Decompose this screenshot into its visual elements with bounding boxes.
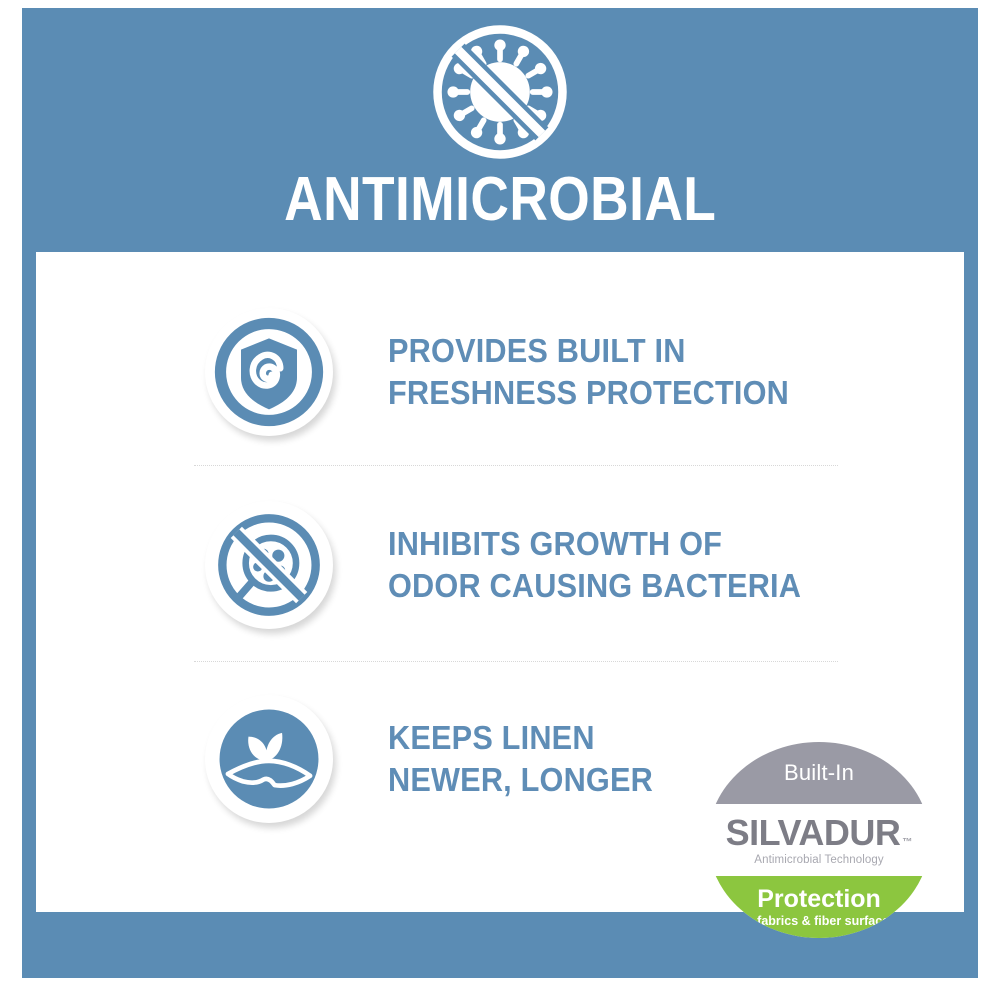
feature-text: INHIBITS GROWTH OF ODOR CAUSING BACTERIA <box>388 523 801 607</box>
feature-icon-wrap <box>194 490 344 640</box>
feature-text: KEEPS LINEN NEWER, LONGER <box>388 717 653 801</box>
badge-protection-label: Protection <box>757 887 881 912</box>
trademark-icon: ™ <box>902 837 912 848</box>
badge-brand-line: SILVADUR ™ <box>726 815 913 851</box>
feature-text: PROVIDES BUILT IN FRESHNESS PROTECTION <box>388 330 789 414</box>
header: ANTIMICROBIAL <box>22 8 978 252</box>
feature-line-2: FRESHNESS PROTECTION <box>388 372 789 414</box>
feature-line-2: ODOR CAUSING BACTERIA <box>388 565 801 607</box>
feature-line-1: INHIBITS GROWTH OF <box>388 523 801 565</box>
page-title: ANTIMICROBIAL <box>284 169 716 231</box>
icon-badge <box>205 695 333 823</box>
divider <box>194 661 838 662</box>
badge-bottom-section: Protection to fabrics & fiber surfaces <box>708 876 930 938</box>
feature-line-1: KEEPS LINEN <box>388 717 653 759</box>
badge-protection-sublabel: to fabrics & fiber surfaces <box>742 915 896 928</box>
feature-row: PROVIDES BUILT IN FRESHNESS PROTECTION <box>36 277 964 467</box>
badge-tagline: Antimicrobial Technology <box>754 854 883 866</box>
infographic-canvas: ANTIMICROBIAL PROVIDES BUILT IN FRESHNES… <box>0 0 1000 1000</box>
icon-badge <box>205 501 333 629</box>
icon-badge <box>205 308 333 436</box>
leaf-linen-icon <box>213 703 325 815</box>
divider <box>194 465 838 466</box>
no-bacteria-magnifier-icon <box>213 509 325 621</box>
badge-top-section: Built-In <box>708 742 930 804</box>
feature-line-1: PROVIDES BUILT IN <box>388 330 789 372</box>
feature-icon-wrap <box>194 684 344 834</box>
badge-built-in-label: Built-In <box>784 760 854 786</box>
badge-middle-section: SILVADUR ™ Antimicrobial Technology <box>708 804 930 876</box>
feature-line-2: NEWER, LONGER <box>388 759 653 801</box>
no-virus-icon <box>429 21 571 163</box>
feature-row: INHIBITS GROWTH OF ODOR CAUSING BACTERIA <box>36 470 964 660</box>
shield-swirl-icon <box>213 316 325 428</box>
badge-brand-name: SILVADUR <box>726 815 901 851</box>
silvadur-badge: Built-In SILVADUR ™ Antimicrobial Techno… <box>708 742 930 938</box>
feature-icon-wrap <box>194 297 344 447</box>
